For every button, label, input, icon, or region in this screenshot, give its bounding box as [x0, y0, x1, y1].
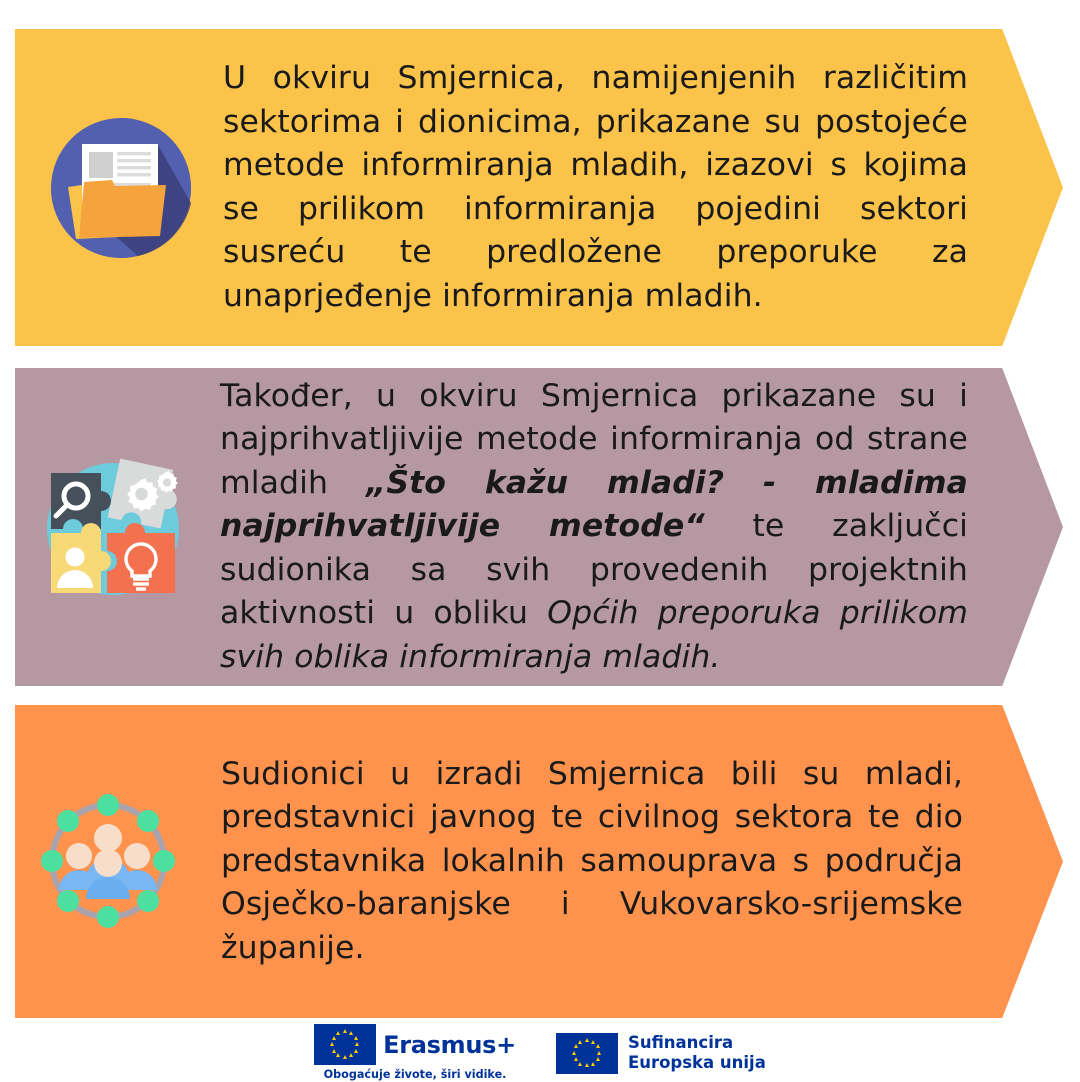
panel-2-paragraph: Također, u okviru Smjernica prikazane su… [220, 375, 968, 680]
eu-star [354, 1036, 358, 1040]
eu-star [578, 1040, 582, 1044]
eu-star [597, 1051, 601, 1055]
panel-1-paragraph: U okviru Smjernica, namijenjenih različi… [223, 57, 968, 318]
people-group-icon [59, 824, 157, 899]
eu-star [572, 1051, 576, 1055]
panel-3-text-segment: Sudionici u izradi Smjernica bili su mla… [221, 756, 963, 966]
erasmus-name: Erasmus+ [383, 1033, 516, 1057]
eu-star [343, 1029, 347, 1033]
eu-star [578, 1062, 582, 1066]
puzzle-pieces-icon [25, 451, 200, 603]
arrow-panel-2: Također, u okviru Smjernica prikazane su… [15, 368, 1063, 686]
eu-star [591, 1040, 595, 1044]
cofunded-line-2: Europska unija [628, 1053, 766, 1073]
people-network-icon [21, 784, 196, 939]
eu-star [574, 1057, 578, 1061]
eu-star [354, 1049, 358, 1053]
folder-document-icon [33, 113, 208, 263]
eu-star [332, 1036, 336, 1040]
eu-star [349, 1031, 353, 1035]
infographic-page: U okviru Smjernica, namijenjenih različi… [0, 0, 1080, 1080]
panel-1-text-segment: U okviru Smjernica, namijenjenih različi… [223, 60, 968, 314]
puzzle-pieces-icon-svg [37, 451, 189, 603]
arrow-panel-3: Sudionici u izradi Smjernica bili su mla… [15, 705, 1063, 1018]
eu-star [355, 1042, 359, 1046]
people-network-icon-svg [31, 784, 186, 939]
panel-2-text: Također, u okviru Smjernica prikazane su… [200, 375, 1063, 680]
eu-star [585, 1038, 589, 1042]
arrow-panel-1: U okviru Smjernica, namijenjenih različi… [15, 29, 1063, 346]
eu-star [596, 1057, 600, 1061]
eu-star [349, 1053, 353, 1057]
erasmus-plus-logo: Erasmus+ Obogaćuje živote, širi vidike. [314, 1024, 516, 1082]
eu-flag-icon [556, 1033, 618, 1074]
cofunded-line-1: Sufinancira [628, 1033, 766, 1053]
panel-3-text: Sudionici u izradi Smjernica bili su mla… [196, 753, 1063, 971]
eu-star [332, 1049, 336, 1053]
eu-star [574, 1044, 578, 1048]
eu-star [343, 1055, 347, 1059]
panel-1-text: U okviru Smjernica, namijenjenih različi… [208, 57, 1063, 318]
folder-document-icon-svg [46, 113, 196, 263]
eu-star [336, 1053, 340, 1057]
eu-flag-icon [314, 1024, 376, 1065]
eu-star [336, 1031, 340, 1035]
panel-3-paragraph: Sudionici u izradi Smjernica bili su mla… [221, 753, 963, 971]
cofunded-eu-logo: Sufinancira Europska unija [556, 1033, 766, 1074]
eu-star [596, 1044, 600, 1048]
eu-star [591, 1062, 595, 1066]
eu-star [330, 1042, 334, 1046]
eu-star [585, 1063, 589, 1067]
footer-logos: Erasmus+ Obogaćuje živote, širi vidike. … [0, 1026, 1080, 1080]
